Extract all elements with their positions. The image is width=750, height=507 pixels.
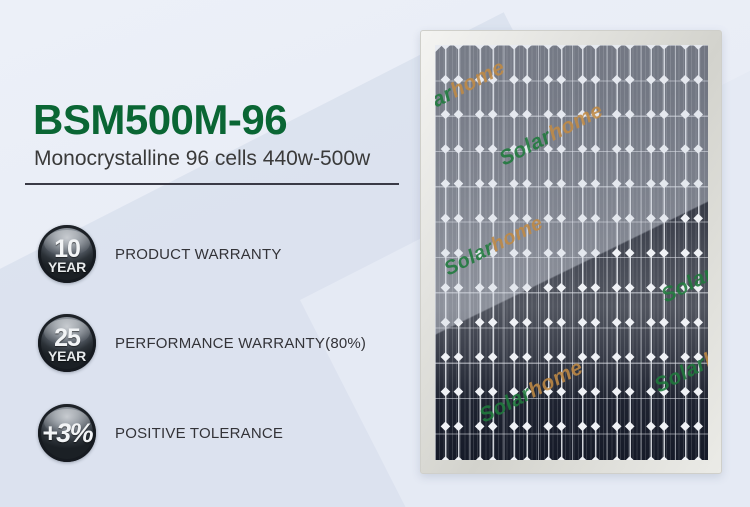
page-title: BSM500M-96 (33, 99, 287, 141)
info-column: BSM500M-96 Monocrystalline 96 cells 440w… (0, 0, 420, 507)
feature-performance-warranty: 25 YEAR PERFORMANCE WARRANTY(80%) (38, 314, 366, 372)
panel-laminate: Solarhome Solarhome Solarhome Solarhome … (435, 45, 708, 460)
badge-10-year: 10 YEAR (38, 225, 96, 283)
feature-positive-tolerance: +3% POSITIVE TOLERANCE (38, 404, 283, 462)
badge-number: 25 (54, 328, 80, 349)
badge-unit: YEAR (48, 349, 86, 363)
panel-cell-fingers (435, 45, 708, 460)
badge-25-year: 25 YEAR (38, 314, 96, 372)
badge-unit: YEAR (48, 260, 86, 274)
badge-number: 10 (54, 239, 80, 260)
title-divider (25, 183, 399, 185)
feature-label: PRODUCT WARRANTY (115, 246, 282, 263)
product-subtitle: Monocrystalline 96 cells 440w-500w (34, 148, 370, 169)
panel-aluminium-frame: Solarhome Solarhome Solarhome Solarhome … (420, 30, 722, 474)
product-banner: BSM500M-96 Monocrystalline 96 cells 440w… (0, 0, 750, 507)
feature-label: PERFORMANCE WARRANTY(80%) (115, 335, 366, 352)
badge-positive-tolerance: +3% (38, 404, 96, 462)
solar-panel-image: Solarhome Solarhome Solarhome Solarhome … (420, 30, 722, 474)
badge-number: +3% (42, 423, 92, 444)
feature-label: POSITIVE TOLERANCE (115, 425, 283, 442)
feature-product-warranty: 10 YEAR PRODUCT WARRANTY (38, 225, 282, 283)
